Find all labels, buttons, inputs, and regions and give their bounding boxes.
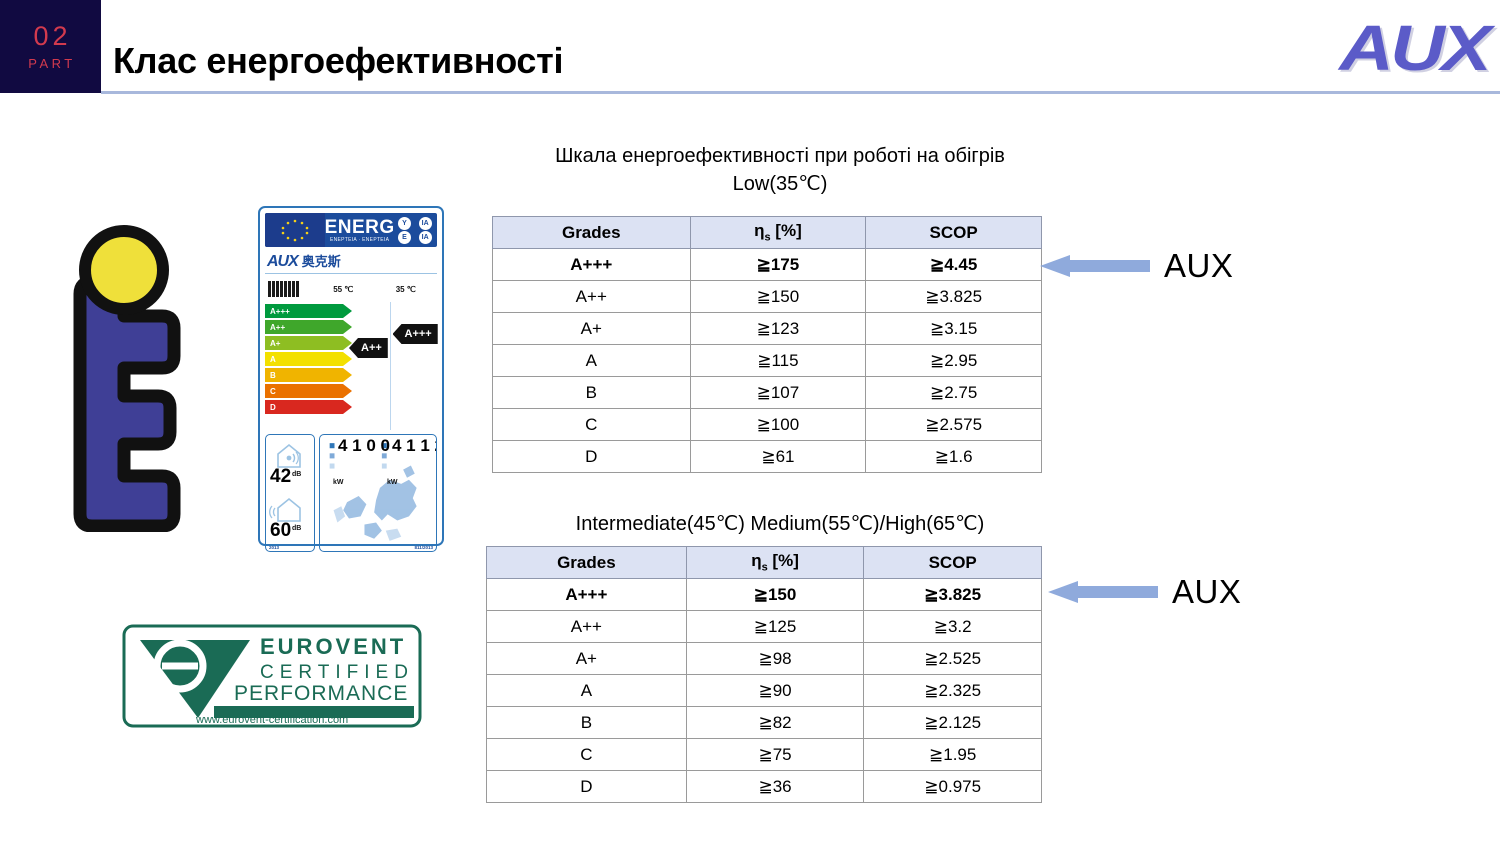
cell-scop: ≧2.125: [864, 707, 1042, 739]
cell-scop: ≧0.975: [864, 771, 1042, 803]
energy-grade-scale: A+++ A++ A+ A B C D: [265, 302, 343, 430]
table-row: A++ ≧125 ≧3.2: [487, 611, 1042, 643]
cell-eta: ≧125: [686, 611, 864, 643]
radiator-icon: [265, 281, 312, 297]
cell-grade: A: [487, 675, 687, 707]
eurovent-line1: EUROVENT: [260, 634, 406, 659]
cell-eta: ≧75: [686, 739, 864, 771]
header-grades: Grades: [493, 217, 691, 249]
cell-grade: A++: [493, 281, 691, 313]
cell-grade: A+: [487, 643, 687, 675]
rating-column-55c: A++: [343, 302, 390, 430]
cell-eta: ≧90: [686, 675, 864, 707]
power-values-left: 4 1 0 0: [338, 439, 390, 453]
cell-scop: ≧3.2: [864, 611, 1042, 643]
rating-column-35c: A+++: [390, 302, 438, 430]
header-eta-unit: [%]: [771, 221, 802, 240]
energ-main-text: ENERG: [325, 218, 395, 237]
cell-scop: ≧1.95: [864, 739, 1042, 771]
temp-left-label: 55 ℃: [312, 285, 375, 294]
cell-eta: ≧123: [690, 313, 866, 345]
lang-badge: IA: [419, 231, 432, 244]
part-number: 02: [29, 23, 71, 50]
section-caption-mid: Intermediate(45℃) Medium(55℃)/High(65℃): [470, 510, 1090, 538]
callout-low-label: AUX: [1164, 247, 1233, 285]
eu-energy-label: ENERG ENEPTEIA · ENEPTEIA Y IA E IA AUX …: [258, 206, 444, 546]
energ-wordmark: ENERG ENEPTEIA · ENEPTEIA: [325, 213, 395, 247]
part-badge: 02 PART: [0, 0, 101, 93]
cell-eta: ≧175: [690, 249, 866, 281]
eurovent-url: www.eurovent-certification.com: [195, 714, 348, 726]
cell-eta: ≧82: [686, 707, 864, 739]
callout-mid: AUX: [1048, 573, 1241, 611]
cell-grade: C: [487, 739, 687, 771]
rating-arrow-55c: A++: [349, 338, 388, 358]
grade-bar: A+: [265, 336, 343, 350]
cell-scop: ≧3.825: [864, 579, 1042, 611]
energy-grade-table-mid: Grades ηs [%] SCOP A+++ ≧150 ≧3.825 A++ …: [486, 546, 1042, 803]
kw-unit-right: kW: [387, 479, 398, 486]
page-title: Клас енергоефективності: [113, 40, 563, 82]
grade-bar: B: [265, 368, 343, 382]
cell-grade: C: [493, 409, 691, 441]
page-header: 02 PART Клас енергоефективності: [0, 0, 1500, 95]
energy-label-rating-columns: A++ A+++: [343, 302, 437, 430]
table-row: A++ ≧150 ≧3.825: [493, 281, 1042, 313]
grade-bar: D: [265, 400, 343, 414]
cell-grade: A+++: [487, 579, 687, 611]
cell-scop: ≧2.575: [866, 409, 1042, 441]
part-label: PART: [25, 57, 75, 70]
arrow-left-icon: [1040, 255, 1150, 277]
cell-eta: ≧98: [686, 643, 864, 675]
label-regulation: 811/2013: [414, 545, 433, 550]
erp-energy-emblem-icon: [62, 222, 212, 532]
cell-eta: ≧107: [690, 377, 866, 409]
lang-badge: IA: [419, 217, 432, 230]
table-row: B ≧82 ≧2.125: [487, 707, 1042, 739]
power-values-right: 4 1 1 2: [392, 439, 437, 453]
cell-grade: D: [493, 441, 691, 473]
energy-label-brand-row: AUX 奥克斯: [265, 247, 437, 274]
section-caption-low: Шкала енергоефективності при роботі на о…: [470, 142, 1090, 198]
grade-bar-label: D: [270, 403, 276, 412]
grade-bar: A++: [265, 320, 343, 334]
cell-grade: A+: [493, 313, 691, 345]
callout-mid-label: AUX: [1172, 573, 1241, 611]
grade-bar-label: C: [270, 387, 276, 396]
grade-bar: A+++: [265, 304, 343, 318]
cell-eta: ≧36: [686, 771, 864, 803]
energy-grade-table-low: Grades ηs [%] SCOP A+++ ≧175 ≧4.45 A++ ≧…: [492, 216, 1042, 473]
grade-bar-label: A+++: [270, 307, 290, 316]
energy-label-language-badges: Y IA E IA: [395, 213, 437, 247]
cell-eta: ≧115: [690, 345, 866, 377]
table-row: A ≧90 ≧2.325: [487, 675, 1042, 707]
header-scop: SCOP: [866, 217, 1042, 249]
label-year: 2013: [269, 545, 279, 550]
noise-outdoor-value: 60: [270, 523, 291, 539]
rating-arrow-35c: A+++: [393, 324, 438, 344]
cell-scop: ≧3.825: [866, 281, 1042, 313]
cell-grade: A++: [487, 611, 687, 643]
cell-eta: ≧61: [690, 441, 866, 473]
table-header-row: Grades ηs [%] SCOP: [493, 217, 1042, 249]
callout-low: AUX: [1040, 247, 1233, 285]
header-eta-unit: [%]: [768, 551, 799, 570]
cell-grade: A: [493, 345, 691, 377]
cell-eta: ≧150: [686, 579, 864, 611]
temp-right-label: 35 ℃: [375, 285, 438, 294]
noise-indoor-unit: dB: [292, 471, 301, 478]
caption-mid-line1: Intermediate(45℃) Medium(55℃)/High(65℃): [470, 510, 1090, 538]
lang-badge: E: [398, 231, 411, 244]
cell-grade: B: [487, 707, 687, 739]
grade-bar-label: A+: [270, 339, 280, 348]
cell-scop: ≧3.15: [866, 313, 1042, 345]
header-grades: Grades: [487, 547, 687, 579]
cell-grade: D: [487, 771, 687, 803]
cell-scop: ≧4.45: [866, 249, 1042, 281]
table-row: B ≧107 ≧2.75: [493, 377, 1042, 409]
header-eta-symbol: η: [754, 221, 764, 240]
cell-scop: ≧1.6: [866, 441, 1042, 473]
cell-grade: B: [493, 377, 691, 409]
noise-outdoor-unit: dB: [292, 525, 301, 532]
energy-label-body: A+++ A++ A+ A B C D A++ A+++: [265, 302, 437, 430]
eurovent-line3: PERFORMANCE: [234, 682, 408, 705]
energy-label-header: ENERG ENEPTEIA · ENEPTEIA Y IA E IA: [265, 213, 437, 247]
grade-bar: A: [265, 352, 343, 366]
energy-label-brand-cn: 奥克斯: [302, 251, 341, 270]
table-row: A+ ≧98 ≧2.525: [487, 643, 1042, 675]
grade-bar-label: A++: [270, 323, 285, 332]
cell-grade: A+++: [493, 249, 691, 281]
table-row: D ≧61 ≧1.6: [493, 441, 1042, 473]
cell-scop: ≧2.325: [864, 675, 1042, 707]
eu-map-panel: 4 1 0 0 4 1 1 2 kW kW 811/2013: [319, 434, 437, 552]
header-eta: ηs [%]: [690, 217, 866, 249]
noise-indoor-value: 42: [270, 469, 291, 485]
table-row: A ≧115 ≧2.95: [493, 345, 1042, 377]
eurovent-line2: CERTIFIED: [260, 662, 414, 683]
grade-bar: C: [265, 384, 343, 398]
cell-eta: ≧150: [690, 281, 866, 313]
grade-bar-label: B: [270, 371, 276, 380]
table-header-row: Grades ηs [%] SCOP: [487, 547, 1042, 579]
table-row: C ≧75 ≧1.95: [487, 739, 1042, 771]
energy-label-brand: AUX: [267, 253, 298, 271]
noise-panel: 42 dB 60 dB 2013: [265, 434, 315, 552]
cell-scop: ≧2.525: [864, 643, 1042, 675]
cell-scop: ≧2.75: [866, 377, 1042, 409]
aux-brand-logo: AUX: [1339, 16, 1488, 80]
eurovent-certified-logo: EUROVENT CERTIFIED PERFORMANCE www.eurov…: [118, 618, 428, 738]
table-row: D ≧36 ≧0.975: [487, 771, 1042, 803]
table-row: A+ ≧123 ≧3.15: [493, 313, 1042, 345]
header-eta-symbol: η: [751, 551, 761, 570]
header-eta: ηs [%]: [686, 547, 864, 579]
header-scop: SCOP: [864, 547, 1042, 579]
table-row: A+++ ≧175 ≧4.45: [493, 249, 1042, 281]
kw-unit-left: kW: [333, 479, 344, 486]
energy-label-footer: 42 dB 60 dB 2013: [265, 434, 437, 552]
cell-scop: ≧2.95: [866, 345, 1042, 377]
table-row: A+++ ≧150 ≧3.825: [487, 579, 1042, 611]
energy-label-temperature-row: 55 ℃ 35 ℃: [265, 274, 437, 302]
grade-bar-label: A: [270, 355, 276, 364]
lang-badge: Y: [398, 217, 411, 230]
table-row: C ≧100 ≧2.575: [493, 409, 1042, 441]
cell-eta: ≧100: [690, 409, 866, 441]
energ-sub-text: ENEPTEIA · ENEPTEIA: [330, 238, 389, 243]
eu-flag-icon: [265, 213, 325, 247]
arrow-left-icon: [1048, 581, 1158, 603]
caption-low-line1: Шкала енергоефективності при роботі на о…: [470, 142, 1090, 170]
header-divider: [101, 91, 1500, 94]
caption-low-line2: Low(35℃): [470, 170, 1090, 198]
